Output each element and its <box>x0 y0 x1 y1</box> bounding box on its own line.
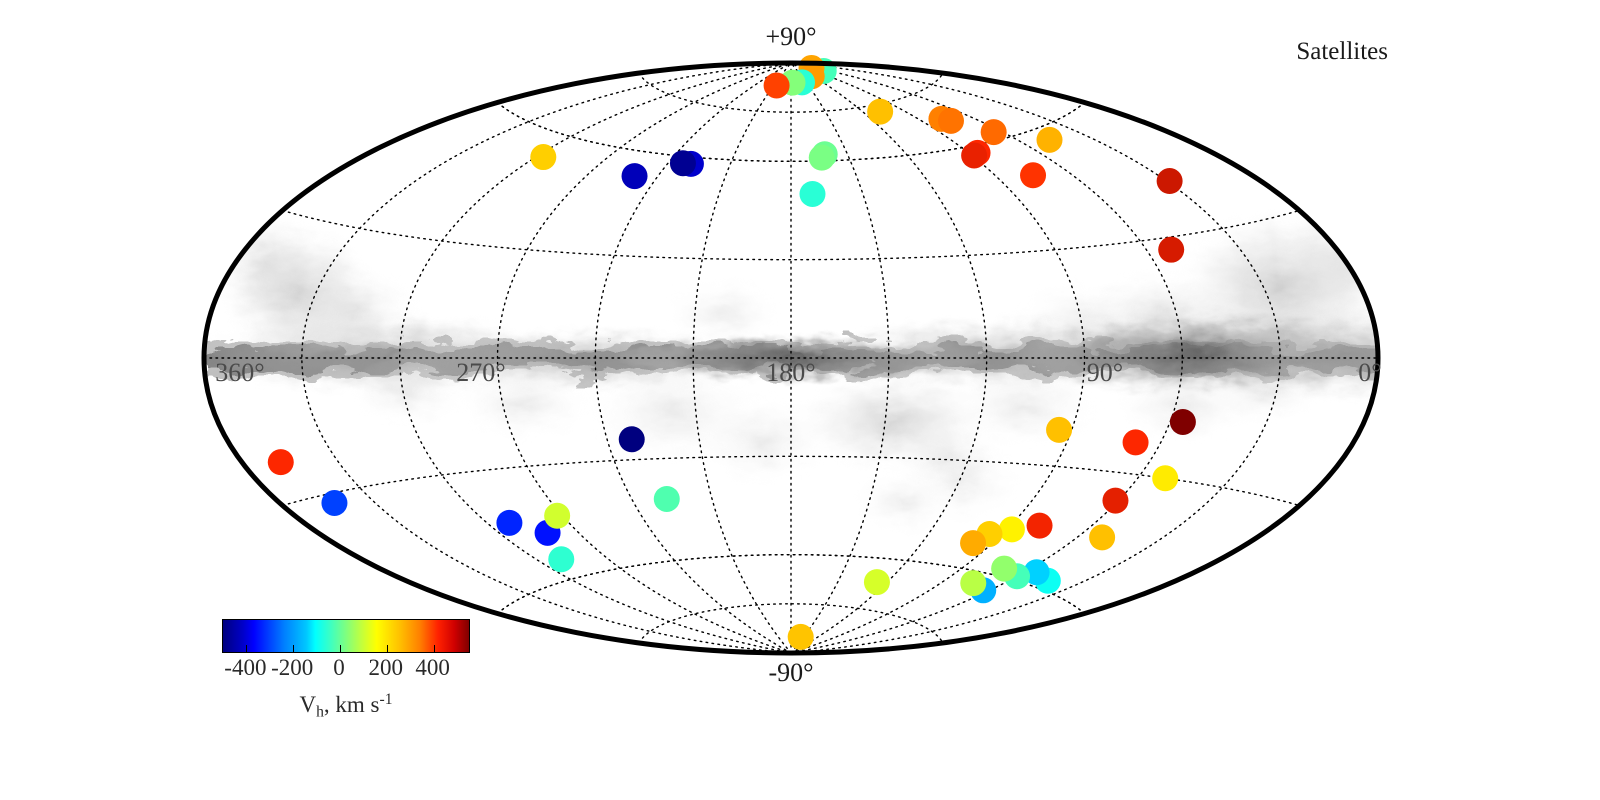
satellite-point[interactable] <box>799 181 825 207</box>
satellite-point[interactable] <box>788 624 814 650</box>
colorbar-label-sup: -1 <box>380 691 393 708</box>
satellite-point[interactable] <box>1170 409 1196 435</box>
colorbar-ticklabel: -200 <box>271 655 313 681</box>
satellite-point[interactable] <box>268 449 294 475</box>
colorbar-label-units: , km s <box>324 692 380 717</box>
colorbar-ticklabel: 400 <box>415 655 450 681</box>
satellite-point[interactable] <box>1089 524 1115 550</box>
colorbar: -400-2000200400 Vh, km s-1 <box>222 619 470 681</box>
satellite-point[interactable] <box>809 145 835 171</box>
colorbar-label-v: V <box>299 692 316 717</box>
lon-label-270: 270° <box>456 358 505 388</box>
lon-label-360: 360° <box>215 358 264 388</box>
satellite-point[interactable] <box>1152 465 1178 491</box>
satellite-point[interactable] <box>1123 429 1149 455</box>
satellite-point[interactable] <box>764 72 790 98</box>
satellite-point[interactable] <box>619 426 645 452</box>
colorbar-gradient-svg <box>223 620 469 652</box>
aitoff-sky-map: 360° 270° 180° 90° 0° <box>203 62 1379 654</box>
satellite-point[interactable] <box>1037 127 1063 153</box>
lon-label-0: 0° <box>1358 358 1381 388</box>
satellite-point[interactable] <box>1046 417 1072 443</box>
satellite-point[interactable] <box>496 510 522 536</box>
satellite-point[interactable] <box>1158 237 1184 263</box>
satellite-point[interactable] <box>960 570 986 596</box>
lon-label-90: 90° <box>1087 358 1123 388</box>
colorbar-ticklabel: 0 <box>333 655 345 681</box>
satellite-point[interactable] <box>670 150 696 176</box>
colorbar-axis-label: Vh, km s-1 <box>299 691 392 722</box>
satellite-point[interactable] <box>961 142 987 168</box>
satellite-point[interactable] <box>981 119 1007 145</box>
satellite-point[interactable] <box>864 569 890 595</box>
north-pole-label: +90° <box>765 22 816 52</box>
colorbar-ticklabels: -400-2000200400 <box>222 655 470 681</box>
satellite-point[interactable] <box>1157 168 1183 194</box>
satellite-point[interactable] <box>938 108 964 134</box>
satellite-point[interactable] <box>1102 488 1128 514</box>
satellite-point[interactable] <box>530 144 556 170</box>
satellite-point[interactable] <box>867 99 893 125</box>
satellite-point[interactable] <box>321 490 347 516</box>
colorbar-gradient <box>222 619 470 653</box>
south-pole-label: -90° <box>768 658 813 688</box>
satellite-point[interactable] <box>1020 162 1046 188</box>
satellite-point[interactable] <box>991 556 1017 582</box>
satellite-point[interactable] <box>548 546 574 572</box>
satellite-point[interactable] <box>960 530 986 556</box>
colorbar-ticklabel: -400 <box>224 655 266 681</box>
colorbar-ticklabel: 200 <box>369 655 404 681</box>
sky-map-figure: Satellites <box>0 0 1600 800</box>
satellite-point[interactable] <box>1027 513 1053 539</box>
satellite-point[interactable] <box>622 163 648 189</box>
satellite-point[interactable] <box>544 503 570 529</box>
satellite-point[interactable] <box>654 486 680 512</box>
satellite-point[interactable] <box>999 516 1025 542</box>
lon-label-180: 180° <box>766 358 815 388</box>
